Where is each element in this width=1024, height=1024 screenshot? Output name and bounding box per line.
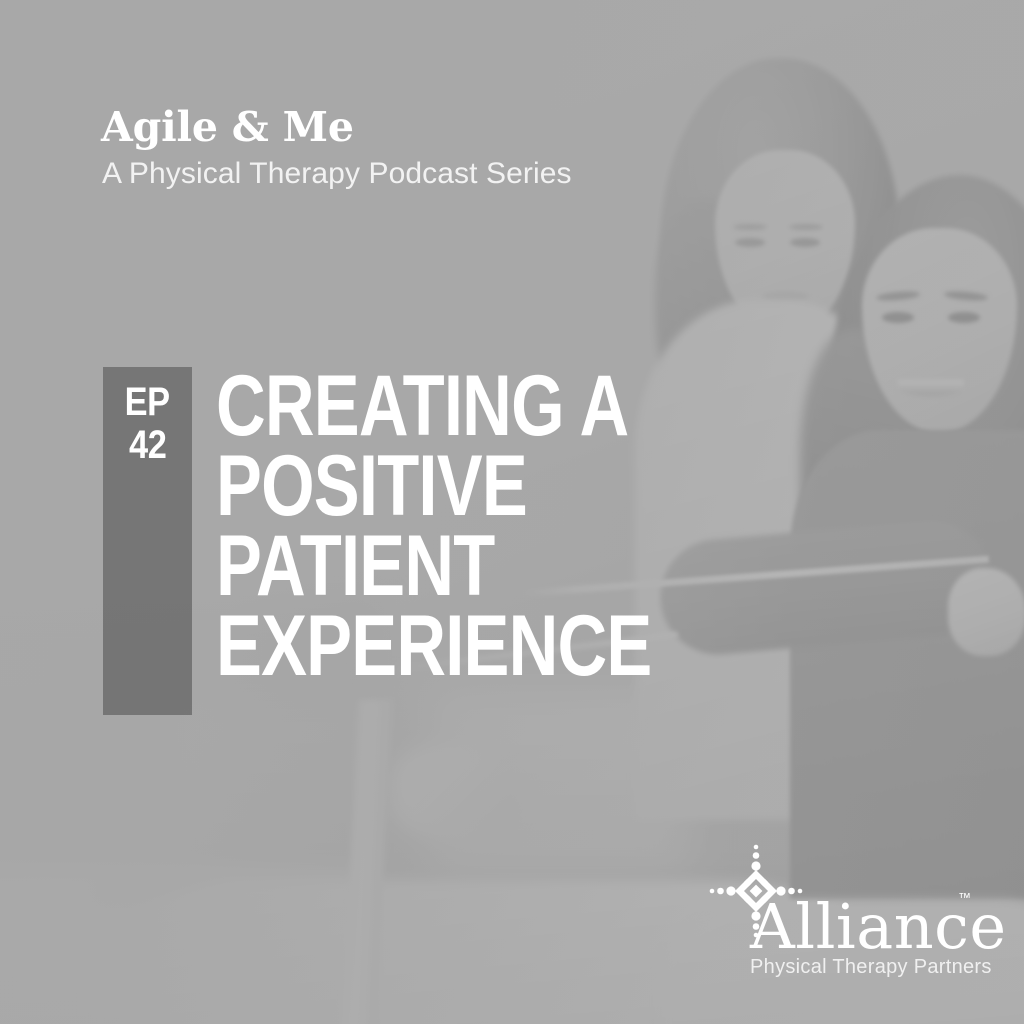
alliance-logo: Alliance ™ Physical Therapy Partners bbox=[700, 838, 990, 993]
podcast-episode-cover: Agile & Me A Physical Therapy Podcast Se… bbox=[0, 0, 1024, 1024]
headline-line-3: PATIENT bbox=[216, 526, 648, 606]
episode-label: EP bbox=[125, 381, 170, 424]
headline-line-2: POSITIVE bbox=[216, 446, 648, 526]
trademark-symbol: ™ bbox=[958, 890, 971, 905]
headline-line-4: EXPERIENCE bbox=[216, 606, 648, 686]
cover-content: Agile & Me A Physical Therapy Podcast Se… bbox=[0, 0, 1024, 1024]
podcast-subtitle: A Physical Therapy Podcast Series bbox=[102, 157, 572, 191]
episode-number: 42 bbox=[129, 424, 166, 467]
alliance-tagline: Physical Therapy Partners bbox=[750, 956, 992, 979]
episode-badge: EP 42 bbox=[103, 367, 192, 715]
episode-headline: CREATING A POSITIVE PATIENT EXPERIENCE bbox=[216, 366, 756, 686]
alliance-wordmark: Alliance bbox=[750, 896, 1007, 958]
headline-line-1: CREATING A bbox=[216, 366, 648, 446]
podcast-title: Agile & Me bbox=[101, 103, 354, 151]
